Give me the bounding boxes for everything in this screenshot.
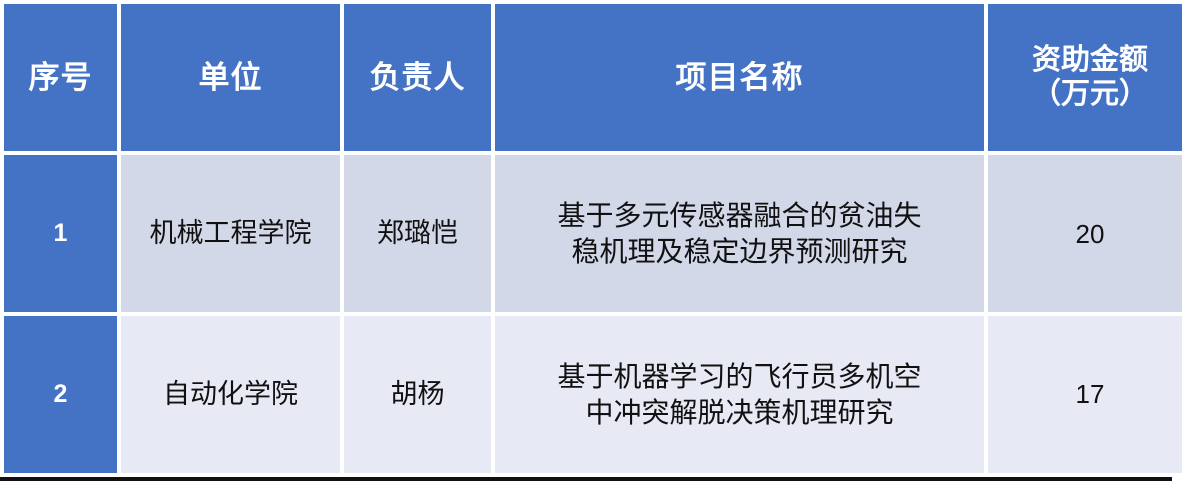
row-title-line1: 基于多元传感器融合的贫油失	[509, 198, 970, 234]
cell-title: 基于机器学习的飞行员多机空 中冲突解脱决策机理研究	[495, 316, 984, 473]
row-amount-value: 17	[1076, 379, 1105, 409]
cell-unit: 机械工程学院	[121, 155, 340, 312]
cell-index: 1	[4, 155, 117, 312]
cell-title: 基于多元传感器融合的贫油失 稳机理及稳定边界预测研究	[495, 155, 984, 312]
table-row: 1 机械工程学院 郑璐恺 基于多元传感器融合的贫油失 稳机理及稳定边界预测研究 …	[4, 155, 1182, 312]
header-cell-amount: 资助金额 （万元）	[988, 4, 1182, 151]
header-label-leader: 负责人	[370, 60, 466, 95]
grant-table: 序号 单位 负责人 项目名称 资助金额 （万元） 1	[0, 0, 1182, 477]
cell-leader: 郑璐恺	[344, 155, 491, 312]
header-label-amount-line1: 资助金额	[988, 44, 1182, 78]
header-cell-title: 项目名称	[495, 4, 984, 151]
cell-unit: 自动化学院	[121, 316, 340, 473]
row-amount-value: 20	[1076, 219, 1105, 249]
header-label-unit: 单位	[199, 60, 263, 95]
row-leader-value: 胡杨	[391, 379, 445, 409]
row-leader-value: 郑璐恺	[377, 218, 458, 248]
grant-table-container: 序号 单位 负责人 项目名称 资助金额 （万元） 1	[0, 0, 1172, 481]
cell-index: 2	[4, 316, 117, 473]
cell-amount: 20	[988, 155, 1182, 312]
header-cell-leader: 负责人	[344, 4, 491, 151]
header-cell-unit: 单位	[121, 4, 340, 151]
table-header-row: 序号 单位 负责人 项目名称 资助金额 （万元）	[4, 4, 1182, 151]
header-label-index: 序号	[29, 60, 93, 95]
cell-leader: 胡杨	[344, 316, 491, 473]
header-cell-index: 序号	[4, 4, 117, 151]
cell-amount: 17	[988, 316, 1182, 473]
row-unit-value: 自动化学院	[163, 379, 298, 409]
row-title-line1: 基于机器学习的飞行员多机空	[509, 359, 970, 395]
row-unit-value: 机械工程学院	[150, 218, 312, 248]
header-label-title: 项目名称	[676, 60, 804, 95]
header-label-amount-line2: （万元）	[988, 78, 1182, 112]
row-title-line2: 中冲突解脱决策机理研究	[509, 395, 970, 431]
row-title-line2: 稳机理及稳定边界预测研究	[509, 234, 970, 270]
row-index-value: 2	[54, 380, 68, 408]
table-row: 2 自动化学院 胡杨 基于机器学习的飞行员多机空 中冲突解脱决策机理研究 17	[4, 316, 1182, 473]
row-index-value: 1	[54, 219, 68, 247]
